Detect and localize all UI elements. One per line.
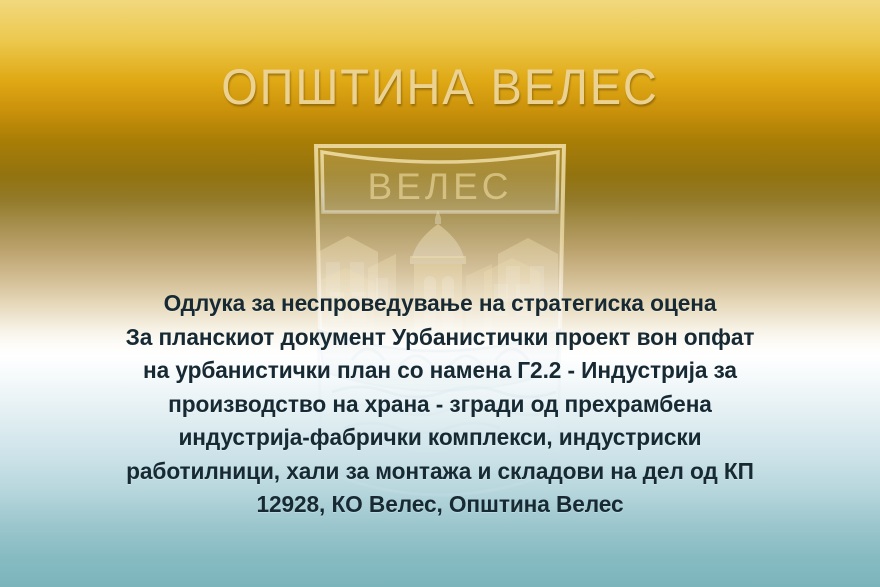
decision-text-line: 12928, КО Велес, Општина Велес	[15, 488, 864, 522]
decision-text-block: Одлука за неспроведување на стратегиска …	[0, 287, 880, 522]
decision-text-line: на урбанистички план со намена Г2.2 - Ин…	[15, 354, 864, 388]
decision-text-line: индустрија-фабрички комплекси, индустрис…	[15, 421, 864, 455]
decision-text-line: производство на храна - згради од прехра…	[15, 388, 864, 422]
page-title: ОПШТИНА ВЕЛЕС	[26, 58, 853, 116]
banner-image: ВЕЛЕС	[0, 0, 880, 587]
decision-text-line: работилници, хали за монтажа и складови …	[15, 455, 864, 489]
decision-text-line: Одлука за неспроведување на стратегиска …	[15, 287, 864, 321]
decision-text-line: За планскиот документ Урбанистички проек…	[15, 321, 864, 355]
